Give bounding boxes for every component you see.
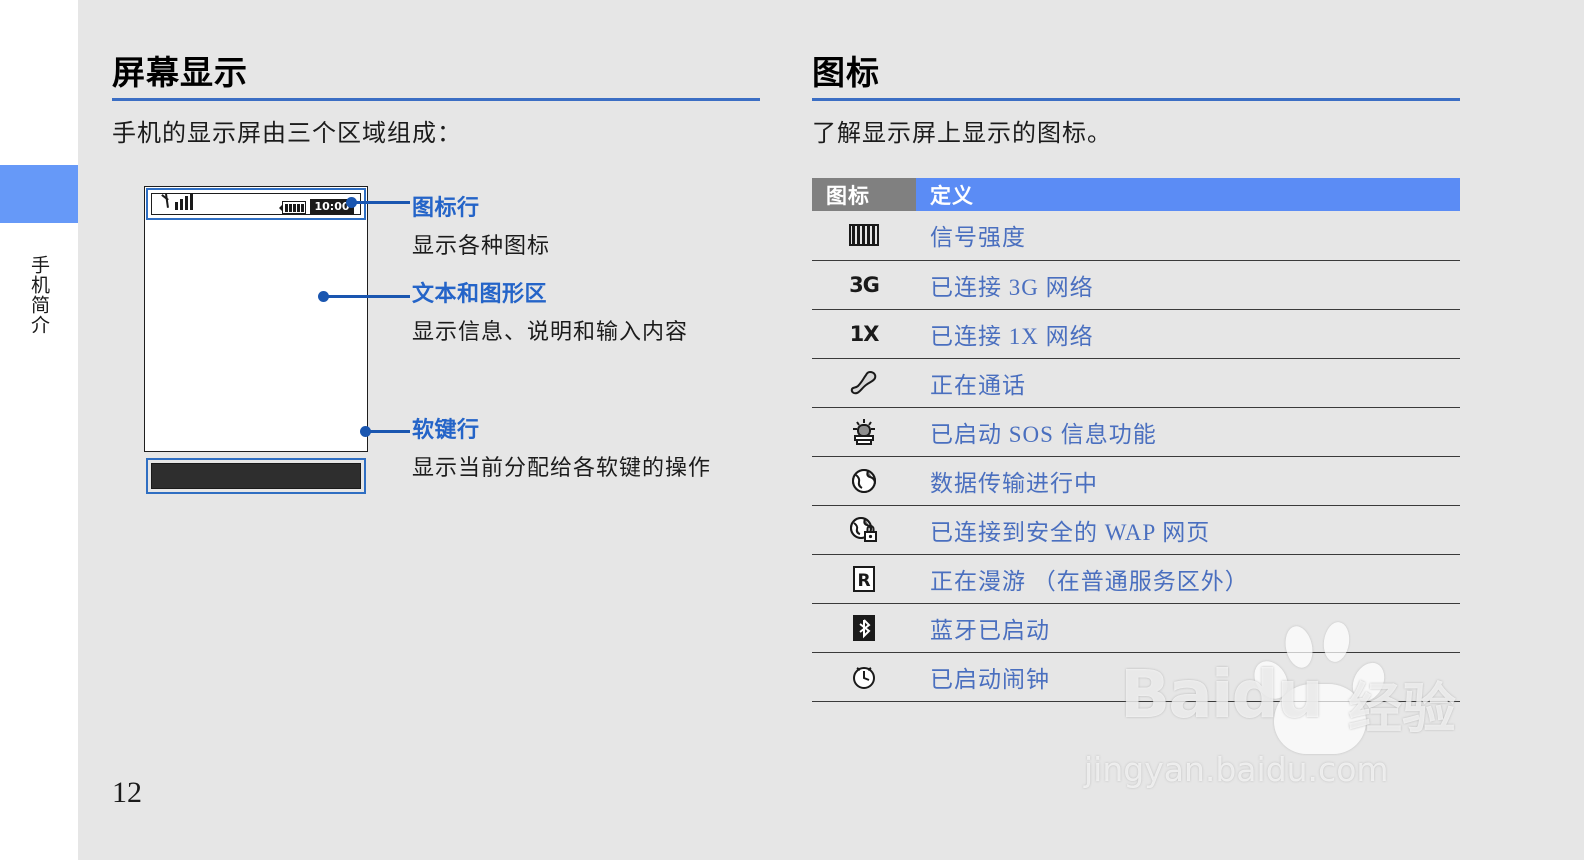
soft-key-row-highlight	[146, 458, 366, 494]
icon-definition-table: 图标 定义 信号强度 3G 已连接 3	[812, 178, 1460, 702]
callout-soft-key: 软键行 显示当前分配给各软键的操作	[412, 412, 711, 482]
page-number: 12	[112, 776, 142, 810]
icons-lead: 了解显示屏上显示的图标。	[812, 119, 1462, 150]
callout-text-area-title: 文本和图形区	[412, 276, 688, 308]
row-definition: 已连接到安全的 WAP 网页	[916, 505, 1460, 554]
page-title-screen-display: 屏幕显示	[112, 0, 762, 89]
table-row: 已启动 SOS 信息功能	[812, 407, 1460, 456]
table-row: 已启动闹钟	[812, 652, 1460, 701]
battery-full-icon	[282, 201, 306, 214]
title-underline-icons	[812, 98, 1460, 101]
screen-display-lead: 手机的显示屏由三个区域组成：	[112, 119, 762, 150]
sidebar: 手机简介	[0, 0, 78, 860]
call-in-progress-icon	[812, 358, 916, 407]
column-header-icon: 图标	[812, 178, 916, 211]
callout-icon-row-title: 图标行	[412, 190, 550, 222]
row-definition: 正在通话	[916, 358, 1460, 407]
callout-soft-key-title: 软键行	[412, 412, 711, 444]
row-definition: 蓝牙已启动	[916, 603, 1460, 652]
leader-line-soft-key	[368, 430, 410, 433]
roaming-icon: R	[812, 554, 916, 603]
sos-alert-icon	[812, 407, 916, 456]
table-row: 1X 已连接 1X 网络	[812, 309, 1460, 358]
svg-text:R: R	[857, 571, 870, 591]
title-underline	[112, 98, 760, 101]
column-header-definition: 定义	[916, 178, 1460, 211]
table-row: 信号强度	[812, 211, 1460, 260]
table-row: 3G 已连接 3G 网络	[812, 260, 1460, 309]
row-definition: 已启动闹钟	[916, 652, 1460, 701]
phone-screen-frame	[144, 186, 368, 452]
soft-key-row-content	[151, 463, 361, 489]
data-transfer-icon	[812, 456, 916, 505]
callout-icon-row: 图标行 显示各种图标	[412, 190, 550, 260]
sidebar-chapter-tab	[0, 165, 78, 223]
network-1x-icon: 1X	[812, 309, 916, 358]
phone-screen-diagram: 10:00 图标行 显示各种图标 文本和图形区 显	[132, 186, 772, 496]
table-row: 正在通话	[812, 358, 1460, 407]
row-definition: 信号强度	[916, 211, 1460, 260]
table-header-row: 图标 定义	[812, 178, 1460, 211]
table-row: 已连接到安全的 WAP 网页	[812, 505, 1460, 554]
leader-line-icon-row	[354, 201, 410, 204]
page-title-icons: 图标	[812, 0, 1462, 89]
table-row: 蓝牙已启动	[812, 603, 1460, 652]
bluetooth-icon	[812, 603, 916, 652]
network-3g-icon: 3G	[812, 260, 916, 309]
signal-strength-icon	[812, 211, 916, 260]
right-column: 图标 了解显示屏上显示的图标。 图标 定义 信号强度	[812, 0, 1462, 860]
row-definition: 已启动 SOS 信息功能	[916, 407, 1460, 456]
leader-line-text-area	[326, 295, 410, 298]
icon-row-content: 10:00	[151, 193, 361, 215]
sidebar-chapter-label: 手机简介	[0, 235, 78, 355]
callout-text-area-desc: 显示信息、说明和输入内容	[412, 314, 688, 346]
row-definition: 正在漫游 （在普通服务区外）	[916, 554, 1460, 603]
signal-bars-icon	[160, 192, 196, 210]
callout-soft-key-desc: 显示当前分配给各软键的操作	[412, 450, 711, 482]
row-definition: 数据传输进行中	[916, 456, 1460, 505]
callout-icon-row-desc: 显示各种图标	[412, 228, 550, 260]
row-definition: 已连接 3G 网络	[916, 260, 1460, 309]
callout-text-area: 文本和图形区 显示信息、说明和输入内容	[412, 276, 688, 346]
row-definition: 已连接 1X 网络	[916, 309, 1460, 358]
manual-page: 手机简介 屏幕显示 手机的显示屏由三个区域组成： 10:00	[0, 0, 1584, 860]
alarm-clock-icon	[812, 652, 916, 701]
secure-wap-icon	[812, 505, 916, 554]
left-column: 屏幕显示 手机的显示屏由三个区域组成： 10:00	[112, 0, 762, 860]
table-row: 数据传输进行中	[812, 456, 1460, 505]
icon-row-highlight: 10:00	[146, 188, 366, 220]
table-row: R 正在漫游 （在普通服务区外）	[812, 554, 1460, 603]
